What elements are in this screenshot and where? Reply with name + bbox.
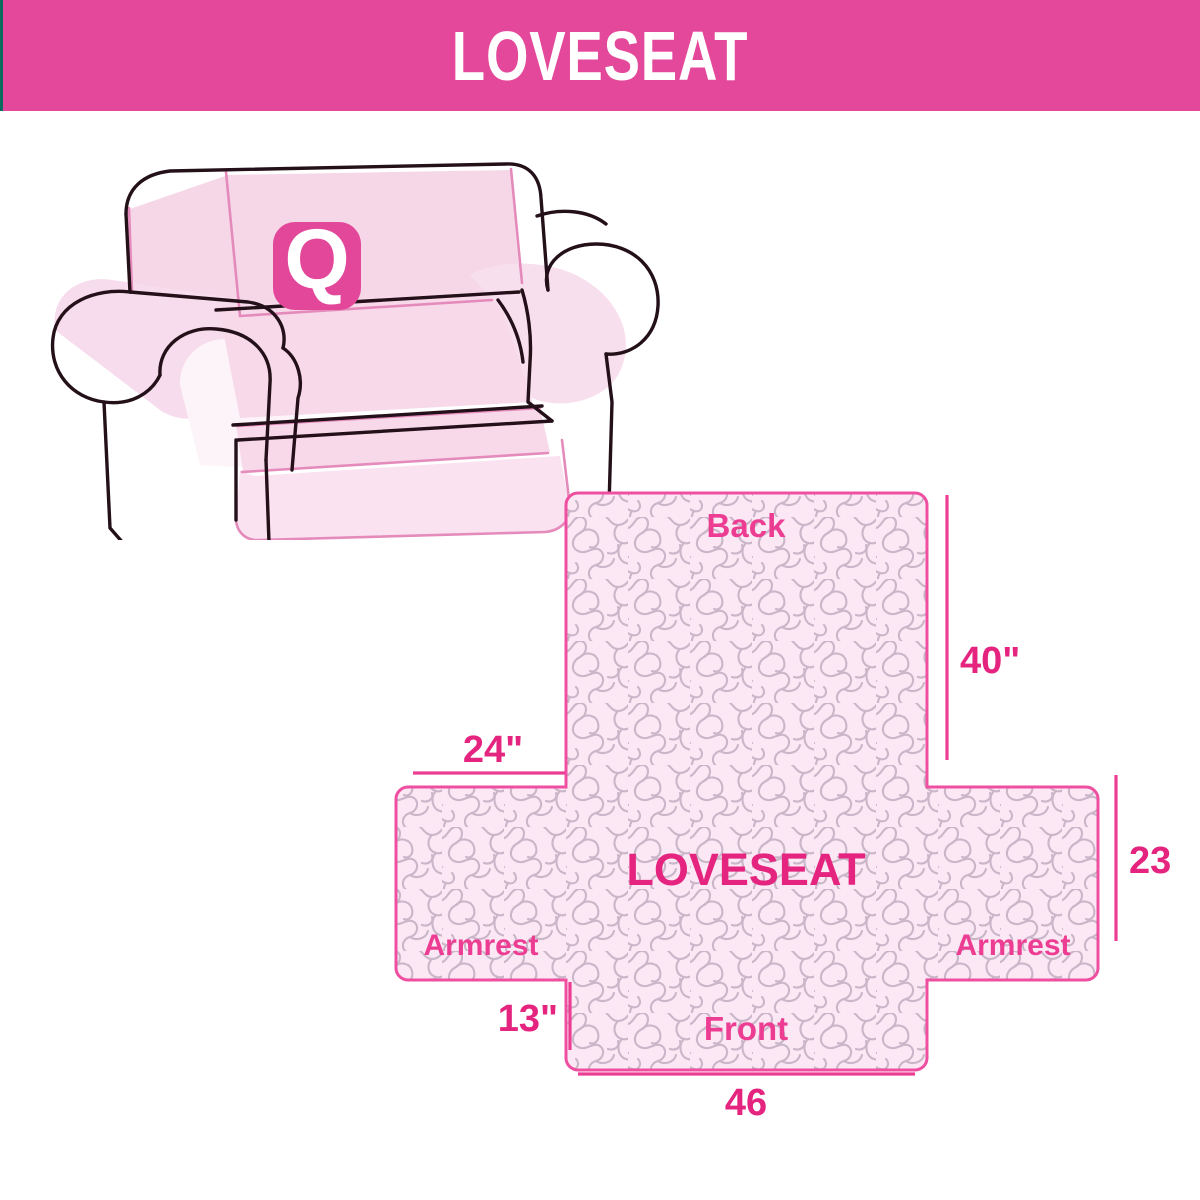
page-title: LOVESEAT — [452, 21, 748, 91]
center-label-loveseat: LOVESEAT — [626, 844, 865, 895]
brand-logo-badge: Q — [273, 212, 361, 310]
brand-logo-letter: Q — [284, 212, 349, 306]
slipcover-flat-layout-diagram: Back Armrest Armrest Front LOVESEAT 40" … — [380, 455, 1170, 1135]
panel-label-armrest-left: Armrest — [423, 929, 538, 962]
dimension-value-armrest-height: 23" — [1129, 840, 1170, 882]
panel-label-front: Front — [704, 1010, 788, 1047]
header-accent-strip — [0, 0, 3, 111]
dimension-value-front-height: 13" — [498, 998, 558, 1040]
dimension-value-back-height: 40" — [960, 640, 1020, 682]
panel-label-armrest-right: Armrest — [955, 929, 1070, 962]
dimension-value-back-offset: 24" — [463, 729, 523, 771]
header-banner: LOVESEAT — [0, 0, 1200, 111]
panel-label-back: Back — [707, 507, 787, 544]
dimension-value-front-width: 46 — [725, 1082, 767, 1124]
